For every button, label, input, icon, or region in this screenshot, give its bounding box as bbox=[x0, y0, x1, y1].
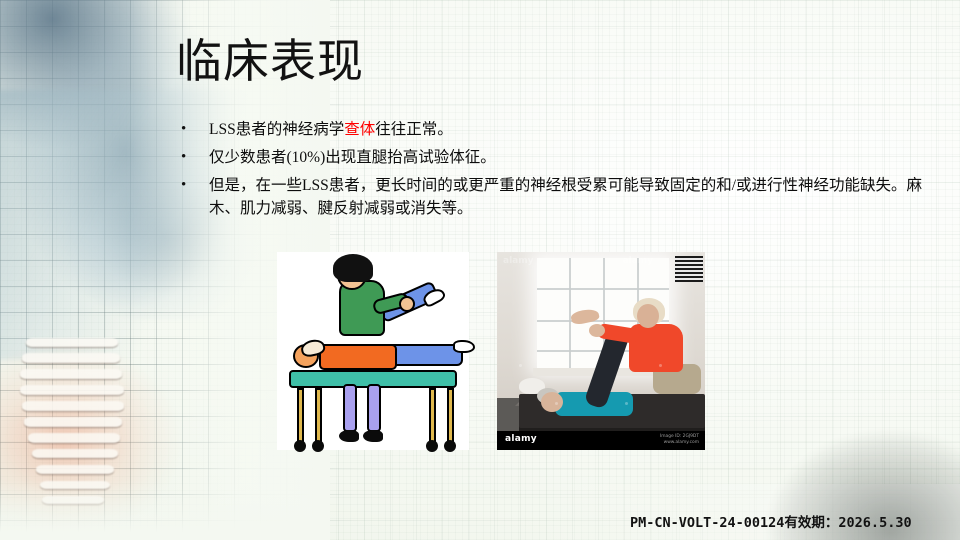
bullet-text-1-highlight: 查体 bbox=[344, 121, 375, 138]
clipart-patient-torso bbox=[319, 344, 397, 370]
clipart-therapist-hair bbox=[333, 254, 373, 282]
photo-watermark-bar: alamy Image ID: 2GJ9DT www.alamy.com bbox=[497, 431, 705, 450]
clipart-therapist-hand bbox=[399, 296, 415, 312]
alamy-logo: alamy bbox=[505, 434, 537, 444]
clipart-therapist-leg bbox=[367, 384, 381, 432]
bullet-text-3: 但是，在一些LSS患者，更长时间的或更严重的神经根受累可能导致固定的和/或进行性… bbox=[209, 177, 922, 217]
slide-canvas: 临床表现 • LSS患者的神经病学查体往往正常。 • 仅少数患者(10%)出现直… bbox=[0, 0, 960, 540]
bullet-marker-icon: • bbox=[181, 118, 186, 141]
bullet-marker-icon: • bbox=[181, 146, 186, 169]
photo-watermark-top-left: alamy bbox=[503, 256, 533, 266]
decoration-fade-bottom bbox=[0, 480, 330, 540]
bullet-item-1: • LSS患者的神经病学查体往往正常。 bbox=[176, 118, 936, 141]
footer-approval-code: PM-CN-VOLT-24-00124有效期：2026.5.30 bbox=[630, 511, 912, 531]
alamy-image-id: Image ID: 2GJ9DT bbox=[660, 434, 699, 439]
clipart-caster bbox=[426, 440, 438, 452]
clipart-table-leg bbox=[315, 388, 322, 443]
bullet-item-3: • 但是，在一些LSS患者，更长时间的或更严重的神经根受累可能导致固定的和/或进… bbox=[176, 174, 936, 220]
clipart-table-leg bbox=[297, 388, 304, 443]
bullet-list: • LSS患者的神经病学查体往往正常。 • 仅少数患者(10%)出现直腿抬高试验… bbox=[176, 118, 936, 225]
straight-leg-raise-clipart bbox=[277, 252, 469, 450]
clipart-table-leg bbox=[447, 388, 454, 443]
photo-patient-head bbox=[541, 392, 563, 412]
bullet-marker-icon: • bbox=[181, 174, 186, 197]
clipart-therapist-shoe bbox=[339, 430, 359, 442]
clipart-patient-leg-flat bbox=[387, 344, 463, 366]
bullet-text-1-pre: LSS患者的神经病学 bbox=[209, 121, 344, 138]
page-title: 临床表现 bbox=[176, 32, 364, 90]
clipart-caster bbox=[312, 440, 324, 452]
photo-therapist-head bbox=[637, 304, 659, 328]
clipart-caster bbox=[444, 440, 456, 452]
photo-therapist-hand bbox=[589, 324, 605, 337]
clipart-therapist-leg bbox=[343, 384, 357, 432]
clipart-table-leg bbox=[429, 388, 436, 443]
photo-window-blinds bbox=[675, 256, 703, 282]
alamy-image-url: www.alamy.com bbox=[664, 440, 699, 445]
photo-watermark-top-right: alamy bbox=[623, 256, 653, 266]
clipart-caster bbox=[294, 440, 306, 452]
straight-leg-raise-photo: alamy alamy alamy Image ID: 2GJ9DT www.a… bbox=[497, 252, 705, 450]
alamy-image-meta: Image ID: 2GJ9DT www.alamy.com bbox=[660, 434, 699, 446]
bullet-text-2: 仅少数患者(10%)出现直腿抬高试验体征。 bbox=[209, 149, 496, 166]
clipart-therapist-shoe bbox=[363, 430, 383, 442]
bullet-item-2: • 仅少数患者(10%)出现直腿抬高试验体征。 bbox=[176, 146, 936, 169]
clipart-patient-foot-flat bbox=[453, 340, 475, 353]
bullet-text-1-post: 往往正常。 bbox=[375, 121, 453, 138]
